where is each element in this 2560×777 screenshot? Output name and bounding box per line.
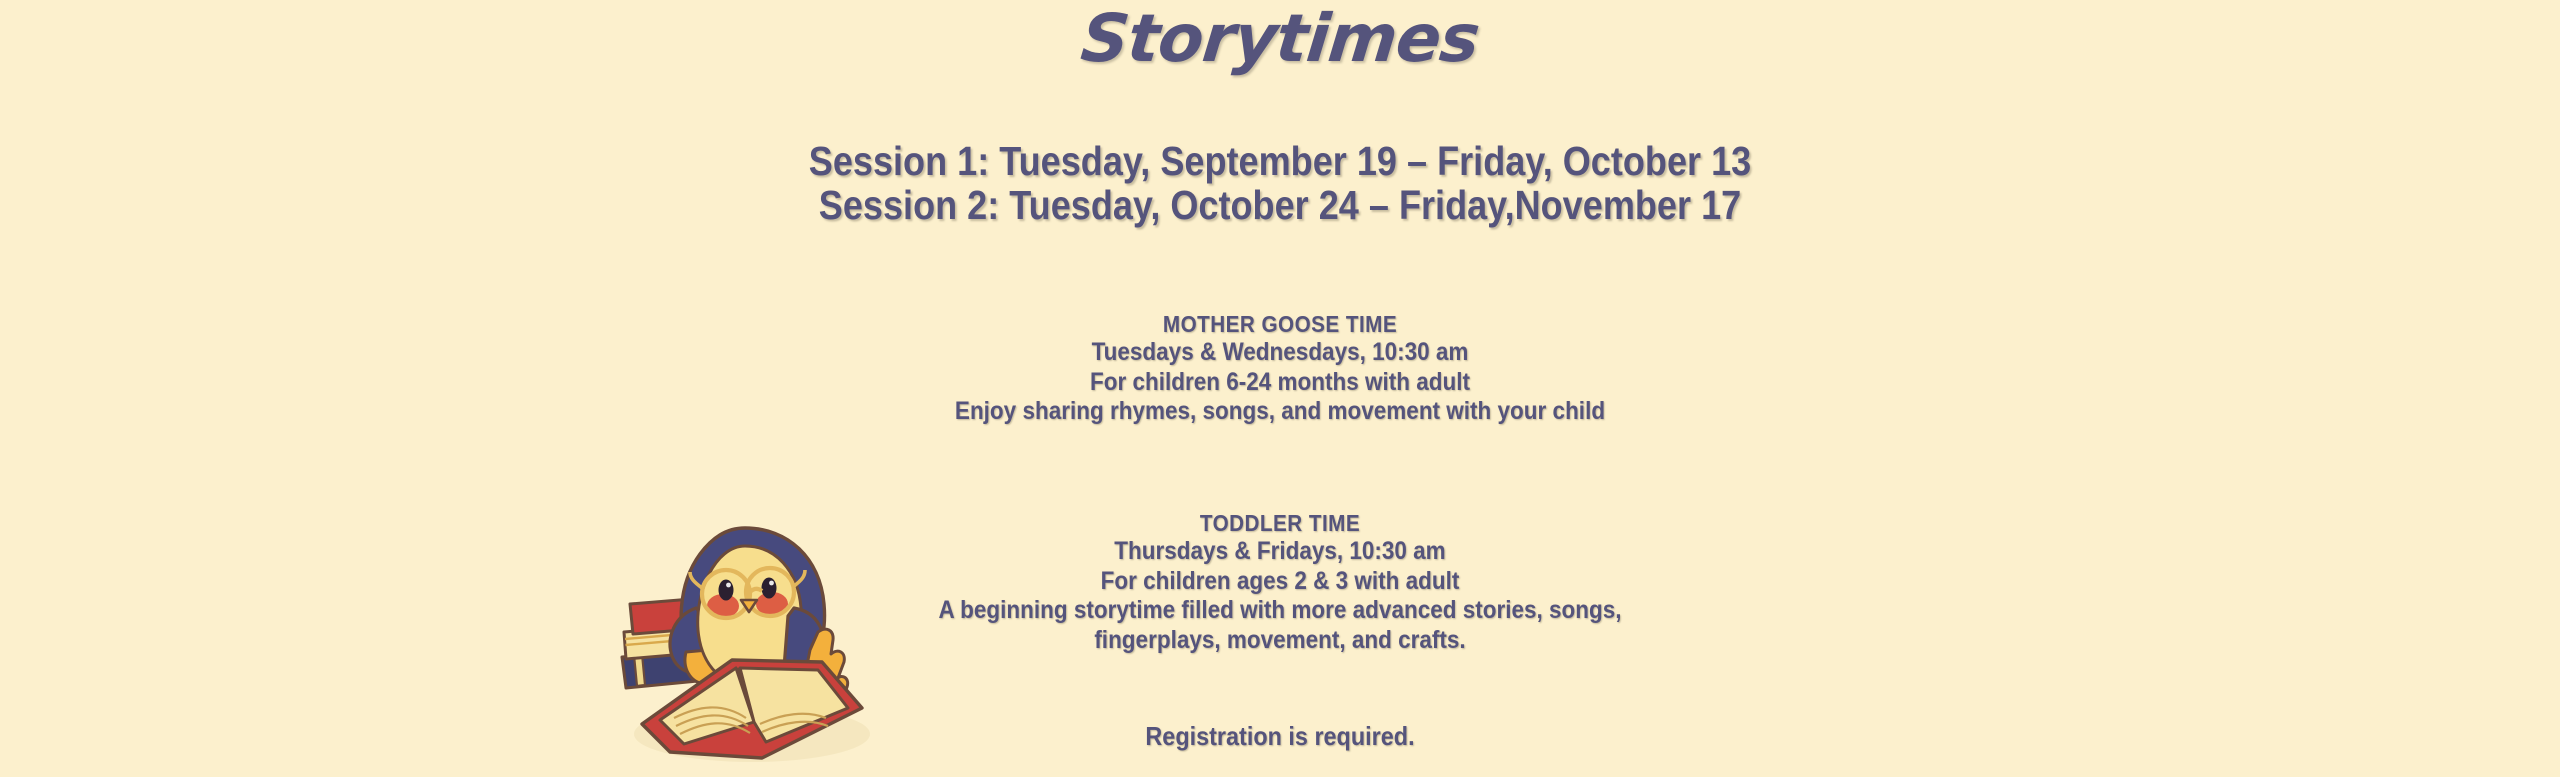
program-age-range: For children 6-24 months with adult — [128, 369, 2432, 396]
poster-text-content: Storytimes Session 1: Tuesday, September… — [0, 0, 2560, 777]
program-mother-goose-time: MOTHER GOOSE TIME Tuesdays & Wednesdays,… — [0, 313, 2560, 425]
program-description-line-1: A beginning storytime filled with more a… — [128, 597, 2432, 624]
penguin-right-eye — [762, 578, 777, 599]
program-age-range: For children ages 2 & 3 with adult — [128, 568, 2432, 595]
program-description: Enjoy sharing rhymes, songs, and movemen… — [128, 398, 2432, 425]
program-toddler-time: TODDLER TIME Thursdays & Fridays, 10:30 … — [0, 512, 2560, 653]
program-heading: TODDLER TIME — [128, 512, 2432, 535]
penguin-reading-book-illustration — [612, 512, 882, 777]
penguin-right-eye-highlight — [769, 581, 774, 586]
session-dates-group: Session 1: Tuesday, September 19 – Frida… — [0, 140, 2560, 228]
registration-note: Registration is required. — [128, 723, 2432, 750]
program-description-line-2: fingerplays, movement, and crafts. — [128, 627, 2432, 654]
program-schedule: Tuesdays & Wednesdays, 10:30 am — [128, 339, 2432, 366]
session-1-dates: Session 1: Tuesday, September 19 – Frida… — [154, 140, 2407, 184]
penguin-left-eye-highlight — [726, 583, 731, 588]
program-heading: MOTHER GOOSE TIME — [128, 313, 2432, 336]
session-2-dates: Session 2: Tuesday, October 24 – Friday,… — [154, 184, 2407, 228]
penguin-left-eye — [719, 580, 734, 601]
registration-note-group: Registration is required. — [0, 723, 2560, 750]
page-title: Storytimes — [0, 6, 2560, 72]
program-schedule: Thursdays & Fridays, 10:30 am — [128, 538, 2432, 565]
storytimes-poster: Storytimes Session 1: Tuesday, September… — [0, 0, 2560, 777]
